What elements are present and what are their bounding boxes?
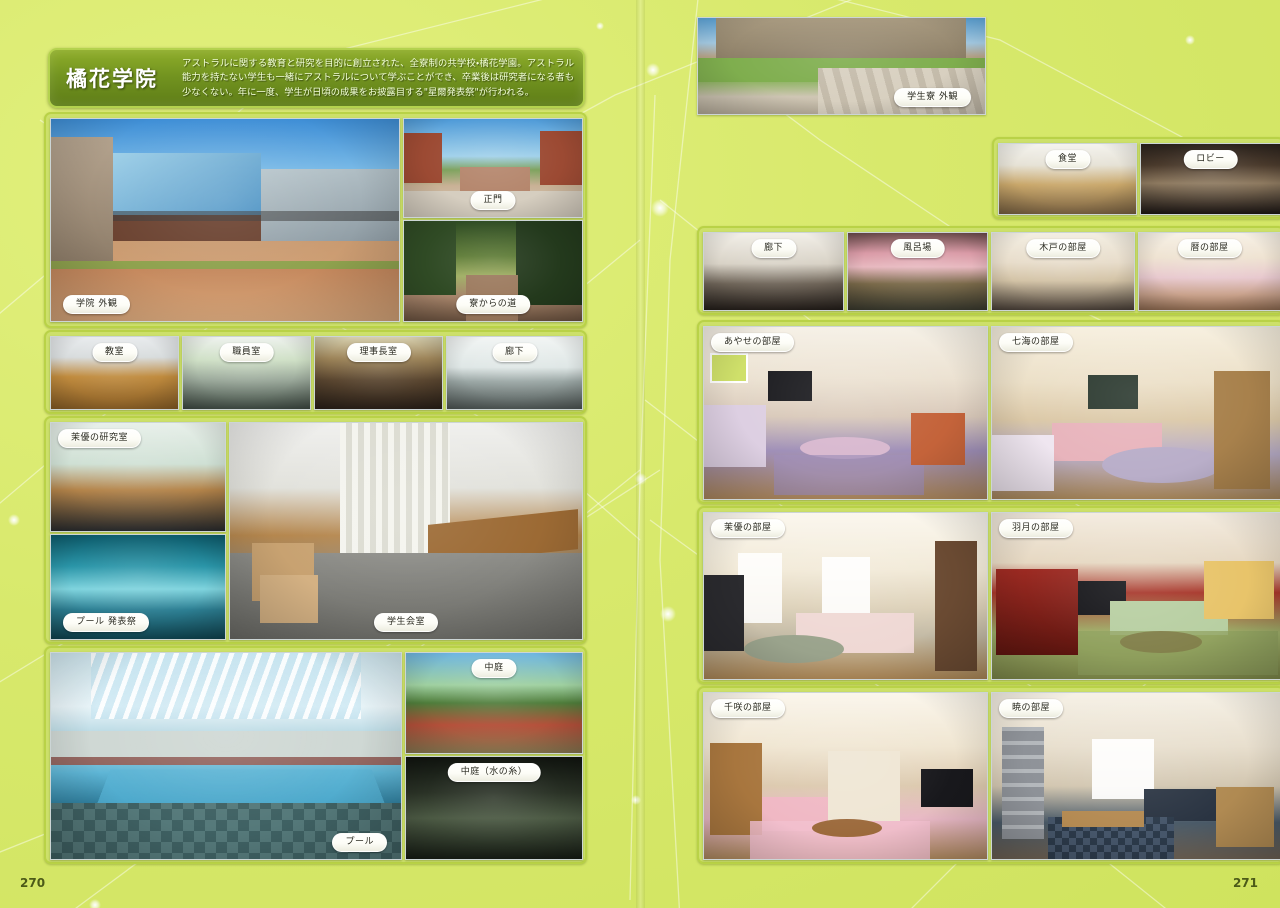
tile-kyoushitsu[interactable]: 教室: [50, 336, 179, 410]
caption-gakuin-gaikan: 学院 外観: [63, 295, 130, 314]
tile-shokudou[interactable]: 食堂: [998, 143, 1137, 215]
art-gakuin-gaikan: [51, 119, 399, 321]
tile-kido-heya[interactable]: 木戸の部屋: [991, 232, 1135, 311]
caption-mayu-heya: 茉優の部屋: [711, 519, 785, 538]
caption-rijichoushitsu: 理事長室: [346, 343, 410, 362]
tile-pool-happyousai[interactable]: プール 発表祭: [50, 534, 226, 640]
caption-rouka-left: 廊下: [492, 343, 537, 362]
book-gutter: [636, 0, 645, 908]
page-number-left: 270: [20, 876, 45, 890]
tile-nanami-heya[interactable]: 七海の部屋: [991, 326, 1280, 500]
tile-nakaniwa-mizu[interactable]: 中庭（水の糸）: [405, 756, 583, 860]
caption-seimon: 正門: [470, 191, 515, 210]
right-board-facilities: 廊下 風呂場 木戸の部屋 暦の部屋: [697, 226, 1280, 315]
art-vignette: [51, 119, 399, 321]
caption-rouka-right: 廊下: [751, 239, 796, 258]
art-ayase-heya: [704, 327, 987, 499]
left-page-title: 橘花学院: [66, 63, 158, 93]
art-pool: [51, 653, 401, 859]
caption-hazuki-heya: 羽月の部屋: [999, 519, 1073, 538]
tile-chisaki-heya[interactable]: 千咲の部屋: [703, 692, 988, 860]
left-board-rooms: 教室 職員室 理事長室 廊下: [44, 330, 587, 414]
tile-seimon[interactable]: 正門: [403, 118, 583, 218]
left-page-description: アストラルに関する教育と研究を目的に創立された、全寮制の共学校・橘花学園。アスト…: [182, 57, 574, 100]
caption-kido-heya: 木戸の部屋: [1026, 239, 1100, 258]
caption-furoba: 風呂場: [890, 239, 945, 258]
left-header-ribbon: 橘花学院 アストラルに関する教育と研究を目的に創立された、全寮制の共学校・橘花学…: [48, 48, 585, 108]
caption-gakuseikaishitsu: 学生会室: [374, 613, 438, 632]
tile-rouka-left[interactable]: 廊下: [446, 336, 583, 410]
right-board-exterior: 学生寮 外観: [697, 17, 1276, 113]
caption-nakaniwa: 中庭: [471, 659, 516, 678]
tile-rijichoushitsu[interactable]: 理事長室: [314, 336, 443, 410]
page-right: 橘花学院 学生寮 学生寮はいくつかの棟に別れており、暁たちの部屋があるのは第三寮…: [640, 0, 1280, 908]
right-board-character-rooms-2: 茉優の部屋 羽月の部屋: [697, 506, 1280, 684]
tile-gakuseikaishitsu[interactable]: 学生会室: [229, 422, 583, 640]
caption-pool-happyousai: プール 発表祭: [63, 613, 149, 632]
tile-koyomi-heya[interactable]: 暦の部屋: [1138, 232, 1280, 311]
tile-gakuseiryou-gaikan[interactable]: 学生寮 外観: [697, 17, 986, 115]
caption-shokudou: 食堂: [1045, 150, 1090, 169]
caption-nanami-heya: 七海の部屋: [999, 333, 1073, 352]
right-board-common: 食堂 ロビー: [992, 137, 1280, 219]
art-vignette: [704, 327, 987, 499]
tile-hazuki-heya[interactable]: 羽月の部屋: [991, 512, 1280, 680]
art-vignette: [230, 423, 582, 639]
tile-pool[interactable]: プール: [50, 652, 402, 860]
art-nanami-heya: [992, 327, 1280, 499]
tile-ryou-kara-michi[interactable]: 寮からの道: [403, 220, 583, 322]
tile-mayu-kenkyushitsu[interactable]: 茉優の研究室: [50, 422, 226, 532]
tile-mayu-heya[interactable]: 茉優の部屋: [703, 512, 988, 680]
art-gakuseikaishitsu: [230, 423, 582, 639]
right-board-character-rooms-1: あやせの部屋 七海の部屋: [697, 320, 1280, 504]
caption-pool: プール: [332, 833, 387, 852]
tile-shokuinshitsu[interactable]: 職員室: [182, 336, 311, 410]
caption-mayu-kenkyushitsu: 茉優の研究室: [58, 429, 141, 448]
tile-gakuin-gaikan[interactable]: 学院 外観: [50, 118, 400, 322]
caption-nakaniwa-mizu: 中庭（水の糸）: [448, 763, 541, 782]
caption-ayase-heya: あやせの部屋: [711, 333, 794, 352]
tile-nakaniwa[interactable]: 中庭: [405, 652, 583, 754]
art-vignette: [992, 327, 1280, 499]
caption-kyoushitsu: 教室: [92, 343, 137, 362]
tile-furoba[interactable]: 風呂場: [847, 232, 988, 311]
caption-ryou-kara-michi: 寮からの道: [456, 295, 530, 314]
left-board-lab-meeting: 茉優の研究室 プール 発表祭 学生会室: [44, 416, 587, 644]
right-board-character-rooms-3: 千咲の部屋 暁の部屋: [697, 686, 1280, 864]
caption-chisaki-heya: 千咲の部屋: [711, 699, 785, 718]
left-board-exterior: 学院 外観 正門: [44, 112, 587, 328]
page-left: 橘花学院 アストラルに関する教育と研究を目的に創立された、全寮制の共学校・橘花学…: [0, 0, 640, 908]
left-board-pool-garden: プール 中庭 中庭（水の糸）: [44, 646, 587, 864]
tile-ayase-heya[interactable]: あやせの部屋: [703, 326, 988, 500]
page-number-right: 271: [1233, 876, 1258, 890]
caption-shokuinshitsu: 職員室: [219, 343, 274, 362]
tile-lobby[interactable]: ロビー: [1140, 143, 1280, 215]
tile-akatsuki-heya[interactable]: 暁の部屋: [991, 692, 1280, 860]
caption-akatsuki-heya: 暁の部屋: [999, 699, 1063, 718]
tile-rouka-right[interactable]: 廊下: [703, 232, 844, 311]
caption-koyomi-heya: 暦の部屋: [1177, 239, 1241, 258]
caption-lobby: ロビー: [1183, 150, 1238, 169]
caption-gakuseiryou-gaikan: 学生寮 外観: [894, 88, 971, 107]
art-vignette: [51, 653, 401, 859]
